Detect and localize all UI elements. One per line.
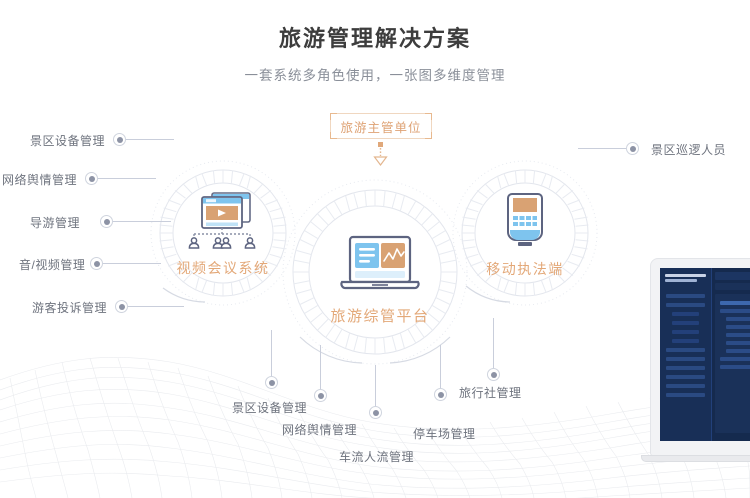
mock-tree-row [726, 333, 750, 337]
left-label-1: 网络舆情管理 [2, 171, 77, 188]
laptop-base [641, 455, 750, 462]
bottom-label-4: 旅行社管理 [459, 384, 522, 401]
mock-sidebar [660, 268, 712, 441]
bottom-label-1: 网络舆情管理 [282, 421, 357, 438]
mock-filterbar [715, 283, 750, 290]
left-connector-4 [128, 306, 184, 307]
mock-menu-item [672, 330, 699, 334]
left-label-3: 音/视频管理 [19, 256, 85, 273]
left-connector-2 [113, 221, 171, 222]
mock-tree-row [726, 317, 750, 321]
mock-content [715, 294, 750, 433]
mock-topbar [715, 272, 750, 280]
left-dot-1[interactable] [85, 172, 98, 185]
left-label-4: 游客投诉管理 [32, 299, 107, 316]
left-dot-3[interactable] [90, 257, 103, 270]
laptop-dashboard-icon [332, 234, 428, 298]
node-mobile-enforcement[interactable]: 移动执法端 [465, 178, 585, 288]
left-connector-0 [126, 139, 174, 140]
mock-tree-row [720, 309, 750, 313]
node-video-conference-label: 视频会议系统 [177, 258, 270, 278]
mock-menu-item [672, 312, 699, 316]
node-mobile-enforcement-label: 移动执法端 [486, 259, 564, 279]
mock-brand-line-1 [665, 274, 706, 277]
mock-brand-line-2 [665, 279, 697, 282]
bottom-label-3: 停车场管理 [413, 425, 476, 442]
right-connector-0 [578, 148, 626, 149]
right-dot-0[interactable] [626, 142, 639, 155]
dashboard-laptop-mockup [650, 258, 750, 478]
page-header: 旅游管理解决方案 一套系统多角色使用，一张图多维度管理 [0, 24, 750, 86]
corner-tl [330, 113, 337, 120]
bottom-connector-1 [320, 345, 321, 390]
mock-menu-item [666, 393, 705, 397]
bottom-dot-1[interactable] [314, 389, 327, 402]
mock-tree-row [726, 349, 750, 353]
mock-tree-panel [715, 294, 750, 433]
mock-menu-item [666, 375, 705, 379]
page-title: 旅游管理解决方案 [0, 24, 750, 54]
mock-menu-item [666, 366, 705, 370]
mock-menu-item [666, 303, 705, 307]
page-subtitle: 一套系统多角色使用，一张图多维度管理 [0, 66, 750, 86]
bottom-label-0: 景区设备管理 [232, 399, 307, 416]
mock-menu-item [666, 294, 705, 298]
bottom-connector-3 [440, 345, 441, 389]
dotted-down-arrow-icon [366, 142, 396, 168]
left-dot-4[interactable] [115, 300, 128, 313]
node-tourism-platform-label: 旅游综管平台 [330, 305, 429, 326]
mock-main-area [712, 268, 750, 441]
video-window-icon [180, 189, 266, 251]
right-label-0: 景区巡逻人员 [651, 141, 726, 158]
mock-tree-row [726, 325, 750, 329]
bottom-connector-4 [493, 318, 494, 369]
mock-menu-item [666, 348, 705, 352]
left-connector-1 [98, 178, 156, 179]
authority-badge: 旅游主管单位 [330, 113, 432, 139]
mock-menu-item [666, 384, 705, 388]
bottom-dot-2[interactable] [369, 406, 382, 419]
bottom-dot-4[interactable] [487, 368, 500, 381]
bottom-dot-3[interactable] [434, 388, 447, 401]
corner-bl [330, 132, 337, 139]
bottom-dot-0[interactable] [265, 376, 278, 389]
mock-menu-item [666, 357, 705, 361]
corner-tr [425, 113, 432, 120]
bottom-connector-0 [271, 330, 272, 377]
laptop-lid [650, 258, 750, 456]
mock-tree-row [720, 365, 750, 369]
mock-menu-item [672, 321, 699, 325]
left-dot-0[interactable] [113, 133, 126, 146]
left-label-2: 导游管理 [30, 214, 80, 231]
mock-tree-row [720, 301, 750, 305]
mock-menu-item [672, 339, 699, 343]
left-connector-3 [103, 263, 161, 264]
left-dot-2[interactable] [100, 215, 113, 228]
mock-tree-row [726, 341, 750, 345]
handheld-terminal-icon [496, 188, 554, 252]
mock-tree-row [720, 357, 750, 361]
corner-br [425, 132, 432, 139]
solution-diagram-page: 旅游管理解决方案 一套系统多角色使用，一张图多维度管理 [0, 0, 750, 498]
bottom-label-2: 车流人流管理 [339, 448, 414, 465]
bottom-connector-2 [375, 365, 376, 407]
node-tourism-platform[interactable]: 旅游综管平台 [315, 220, 445, 340]
node-video-conference[interactable]: 视频会议系统 [163, 178, 283, 288]
left-label-0: 景区设备管理 [30, 132, 105, 149]
laptop-screen [660, 268, 750, 441]
authority-badge-label: 旅游主管单位 [340, 117, 421, 136]
